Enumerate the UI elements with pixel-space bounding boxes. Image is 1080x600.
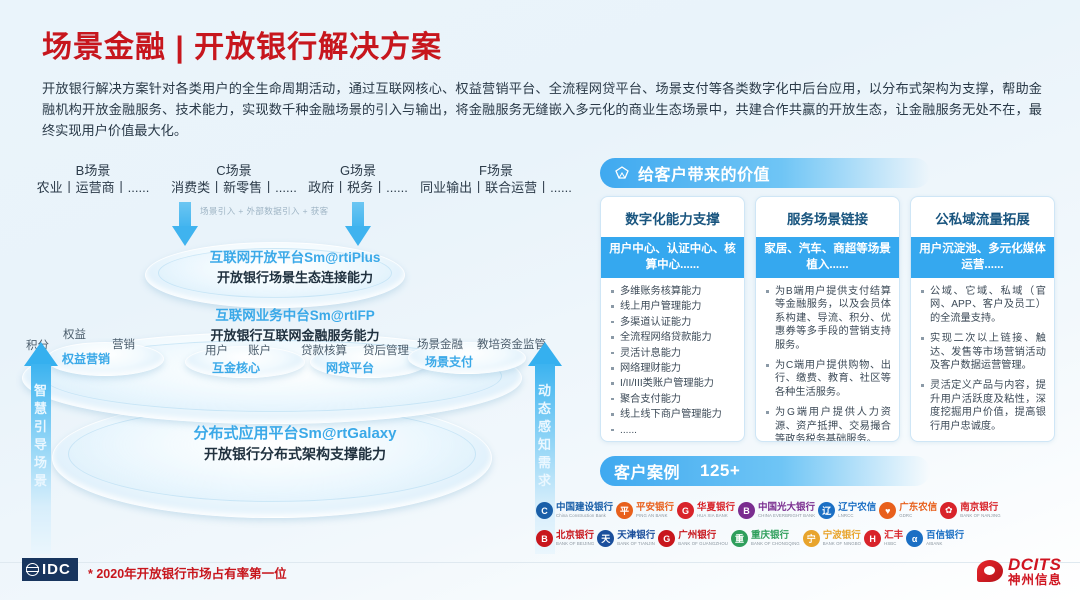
cases-section-ribbon: 客户案例 125+ <box>600 456 930 486</box>
logo-name-en: PING AN BANK <box>636 514 674 518</box>
value-section-ribbon: 给客户带来的价值 <box>600 158 930 188</box>
logo-mark-icon: 平 <box>616 502 633 519</box>
capsule-tag: 用户 <box>205 342 228 358</box>
logo-name-en: BANK OF NINGBO <box>823 542 861 546</box>
list-item: 为B端用户提供支付结算等金融服务，以及会员体系构建、导流、积分、优惠券等多手段的… <box>762 285 891 352</box>
logo-name-en: HUA XIA BANK <box>697 514 735 518</box>
logo-name-cn: 百信银行 <box>926 531 964 541</box>
diamond-icon <box>614 165 630 181</box>
value-card-band: 家居、汽车、商超等场景植入...... <box>756 237 899 278</box>
layer-product-name: 互联网开放平台Sm@rtiPlus <box>0 246 590 266</box>
value-ribbon-title: 给客户带来的价值 <box>638 161 770 185</box>
customer-logo: G广州银行BANK OF GUANGZHOU <box>658 526 728 551</box>
logo-row: C中国建设银行China Construction Bank平平安银行PING … <box>536 498 1001 523</box>
logo-name-en: HSBC <box>884 542 903 546</box>
layer-top-text: 互联网开放平台Sm@rtiPlus 开放银行场景生态连接能力 <box>0 246 590 286</box>
logo-mark-icon: 天 <box>597 530 614 547</box>
idc-logo-text: IDC <box>42 561 71 578</box>
logo-mark-icon: B <box>536 530 553 547</box>
customer-logo: G华夏银行HUA XIA BANK <box>677 498 735 523</box>
customer-logo: 天天津银行BANK OF TIANJIN <box>597 526 655 551</box>
logo-name-en: BANK OF TIANJIN <box>617 542 655 546</box>
list-item: 灵活定义产品与内容，提升用户活跃度及粘性，深度挖掘用户价值，提高银行用户忠诚度。 <box>917 379 1046 433</box>
footer-note: * 2020年开放银行市场占有率第一位 <box>88 563 287 582</box>
cases-ribbon-title: 客户案例 <box>614 459 680 483</box>
scene-subtitle: 同业输出丨联合运营丨...... <box>410 179 582 197</box>
list-item: ...... <box>607 424 736 437</box>
cases-count: 125+ <box>700 461 740 481</box>
logo-name-en: LNRCC <box>838 514 876 518</box>
list-item: 多渠道认证能力 <box>607 316 736 329</box>
value-card-list: 多维账务核算能力 线上用户管理能力 多渠道认证能力 全流程网络贷款能力 灵活计息… <box>601 278 744 442</box>
capsule-label-rights-marketing: 权益营销 <box>62 350 110 367</box>
scene-subtitle: 农业丨运营商丨...... <box>18 179 168 197</box>
value-card-band: 用户沉淀池、多元化媒体运营...... <box>911 237 1054 278</box>
logo-mark-icon: α <box>906 530 923 547</box>
logo-name-cn: 中国光大银行 <box>758 503 815 513</box>
value-card: 数字化能力支撑 用户中心、认证中心、核算中心...... 多维账务核算能力 线上… <box>600 196 745 442</box>
layer-capability: 开放银行分布式架构支撑能力 <box>0 444 590 464</box>
idc-logo: IDC <box>22 558 78 581</box>
capsule-label-loan-platform: 网贷平台 <box>326 359 374 376</box>
logo-name-cn: 中国建设银行 <box>556 503 613 513</box>
customer-logo: C中国建设银行China Construction Bank <box>536 498 613 523</box>
list-item: 多维账务核算能力 <box>607 285 736 298</box>
capsule-tag: 贷款核算 <box>301 342 347 358</box>
list-item: 线上用户管理能力 <box>607 300 736 313</box>
logo-name-cn: 汇丰 <box>884 531 903 541</box>
layer-capability: 开放银行场景生态连接能力 <box>0 267 590 286</box>
layer-product-name: 分布式应用平台Sm@rtGalaxy <box>0 422 590 443</box>
scene-column-B: B场景 农业丨运营商丨...... <box>18 162 168 197</box>
swirl-icon <box>977 560 1003 582</box>
customer-logo: ✿南京银行BANK OF NANJING <box>940 498 1000 523</box>
list-item: 网络理财能力 <box>607 362 736 375</box>
page-description: 开放银行解决方案针对各类用户的全生命周期活动，通过互联网核心、权益营销平台、全流… <box>42 78 1042 141</box>
logo-name-cn: 天津银行 <box>617 531 655 541</box>
logo-name-cn: 华夏银行 <box>697 503 735 513</box>
value-card-list: 公域、它域、私域（官网、APP、客户及员工）的全流量支持。 实现二次以上链接、触… <box>911 278 1054 442</box>
scene-column-G: G场景 政府丨税务丨...... <box>288 162 428 197</box>
logo-mark-icon: ♥ <box>879 502 896 519</box>
logo-mark-icon: G <box>677 502 694 519</box>
logo-name-cn: 北京银行 <box>556 531 594 541</box>
capsule-tag: 贷后管理 <box>363 342 409 358</box>
list-item: 灵活计息能力 <box>607 347 736 360</box>
slide-root: 场景金融 | 开放银行解决方案 开放银行解决方案针对各类用户的全生命周期活动，通… <box>0 0 1080 600</box>
dcits-brand-logo: DCITS 神州信息 <box>977 556 1062 587</box>
globe-icon <box>26 563 39 576</box>
logo-name-en: AIBANK <box>926 542 964 546</box>
logo-mark-icon: H <box>864 530 881 547</box>
capsule-label-core: 互金核心 <box>212 359 260 376</box>
customer-logo: 重重庆银行BANK OF CHONGQING <box>731 526 800 551</box>
brand-name-en: DCITS <box>1008 556 1062 574</box>
capsule-tag: 账户 <box>248 342 271 358</box>
logo-name-cn: 重庆银行 <box>751 531 800 541</box>
customer-logo: ♥广东农信GDRC <box>879 498 937 523</box>
logo-mark-icon: C <box>536 502 553 519</box>
customer-logo: B北京银行BANK OF BEIJING <box>536 526 594 551</box>
logo-name-en: CHINA EVERBRIGHT BANK <box>758 514 815 518</box>
logo-name-en: BANK OF NANJING <box>960 514 1000 518</box>
customer-logo: 宁宁波银行BANK OF NINGBO <box>803 526 861 551</box>
customer-logo: α百信银行AIBANK <box>906 526 964 551</box>
scene-down-arrow-c-icon <box>172 202 198 246</box>
brand-name-cn: 神州信息 <box>1008 574 1062 587</box>
list-item: 公域、它域、私域（官网、APP、客户及员工）的全流量支持。 <box>917 285 1046 325</box>
capsule-tag: 场景金融 <box>417 336 463 352</box>
logo-mark-icon: B <box>738 502 755 519</box>
list-item: 线上线下商户管理能力 <box>607 408 736 421</box>
logo-name-en: BANK OF GUANGZHOU <box>678 542 728 546</box>
logo-mark-icon: G <box>658 530 675 547</box>
value-card-title: 数字化能力支撑 <box>601 197 744 237</box>
scene-down-arrow-g-icon <box>345 202 371 246</box>
logo-mark-icon: 重 <box>731 530 748 547</box>
layer-bottom-text: 分布式应用平台Sm@rtGalaxy 开放银行分布式架构支撑能力 <box>0 422 590 464</box>
logo-name-cn: 辽宁农信 <box>838 503 876 513</box>
logo-name-cn: 广东农信 <box>899 503 937 513</box>
list-item: 全流程网络贷款能力 <box>607 331 736 344</box>
logo-name-en: China Construction Bank <box>556 514 613 518</box>
logo-row: B北京银行BANK OF BEIJING天天津银行BANK OF TIANJIN… <box>536 526 964 551</box>
value-card: 服务场景链接 家居、汽车、商超等场景植入...... 为B端用户提供支付结算等金… <box>755 196 900 442</box>
value-card-list: 为B端用户提供支付结算等金融服务，以及会员体系构建、导流、积分、优惠券等多手段的… <box>756 278 899 442</box>
logo-name-en: BANK OF CHONGQING <box>751 542 800 546</box>
right-arrow-label: 动态感知需求 <box>537 382 553 490</box>
scene-title: B场景 <box>18 162 168 179</box>
logo-name-cn: 平安银行 <box>636 503 674 513</box>
logo-mark-icon: 辽 <box>818 502 835 519</box>
scene-column-F: F场景 同业输出丨联合运营丨...... <box>410 162 582 197</box>
value-card: 公私域流量拓展 用户沉淀池、多元化媒体运营...... 公域、它域、私域（官网、… <box>910 196 1055 442</box>
flow-label: 场景引入 + 外部数据引入 + 获客 <box>200 205 329 217</box>
logo-name-cn: 广州银行 <box>678 531 728 541</box>
layer-product-name: 互联网业务中台Sm@rtIFP <box>0 304 590 324</box>
logo-name-en: BANK OF BEIJING <box>556 542 594 546</box>
logo-name-cn: 南京银行 <box>960 503 1000 513</box>
logo-name-en: GDRC <box>899 514 937 518</box>
logo-mark-icon: ✿ <box>940 502 957 519</box>
customer-logo: 辽辽宁农信LNRCC <box>818 498 876 523</box>
value-card-title: 服务场景链接 <box>756 197 899 237</box>
capsule-tag: 营销 <box>112 336 135 352</box>
logo-name-cn: 宁波银行 <box>823 531 861 541</box>
page-title: 场景金融 | 开放银行解决方案 <box>42 22 442 66</box>
customer-logo: 平平安银行PING AN BANK <box>616 498 674 523</box>
list-item: 为G端用户提供人力资源、资产抵押、交易撮合等政务税务基础服务。 <box>762 406 891 442</box>
list-item: 为C端用户提供购物、出行、缴费、教育、社区等各种生活服务。 <box>762 359 891 399</box>
capsule-tag: 权益 <box>63 326 86 342</box>
list-item: 聚合支付能力 <box>607 393 736 406</box>
list-item: 实现二次以上链接、触达、发售等市场营销活动及客户数据运营管理。 <box>917 332 1046 372</box>
scene-title: F场景 <box>410 162 582 179</box>
logo-mark-icon: 宁 <box>803 530 820 547</box>
capsule-label-scene-pay: 场景支付 <box>425 353 473 370</box>
left-arrow-label: 智慧引导场景 <box>33 382 49 490</box>
left-up-arrow-icon: 智慧引导场景 <box>24 342 58 532</box>
value-card-title: 公私域流量拓展 <box>911 197 1054 237</box>
customer-logo: B中国光大银行CHINA EVERBRIGHT BANK <box>738 498 815 523</box>
customer-logo-wall: C中国建设银行China Construction Bank平平安银行PING … <box>536 498 1076 554</box>
value-card-band: 用户中心、认证中心、核算中心...... <box>601 237 744 278</box>
architecture-diagram: B场景 农业丨运营商丨...... C场景 消费类丨新零售丨...... G场景… <box>0 150 590 550</box>
scene-title: G场景 <box>288 162 428 179</box>
scene-subtitle: 政府丨税务丨...... <box>288 179 428 197</box>
customer-logo: H汇丰HSBC <box>864 526 903 551</box>
list-item: I/II/III类账户管理能力 <box>607 377 736 390</box>
